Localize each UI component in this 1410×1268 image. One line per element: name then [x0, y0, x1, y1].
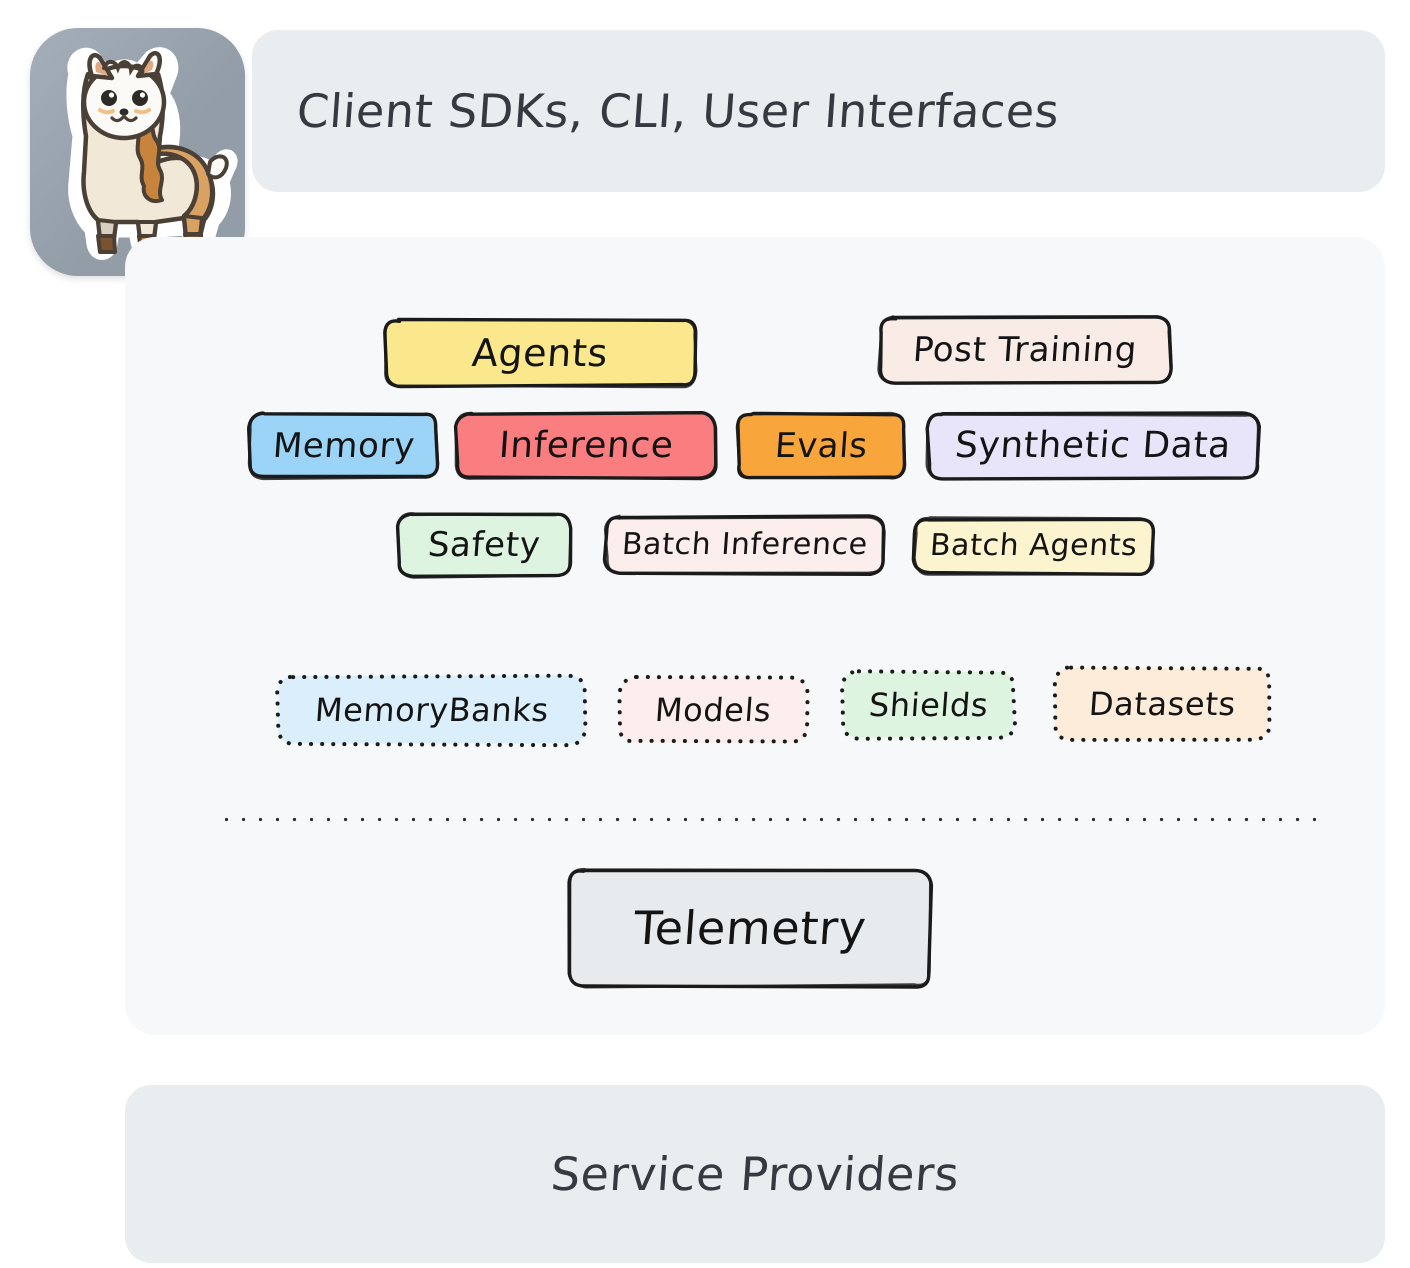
api-box-label: Agents — [471, 334, 610, 372]
resource-box-label: Shields — [868, 689, 989, 721]
api-box-batch-agents[interactable]: Batch Agents — [915, 519, 1153, 573]
diagram-canvas: Client SDKs, CLI, User Interfaces — [0, 0, 1410, 1268]
api-box-label: Batch Agents — [929, 531, 1139, 561]
telemetry-box-telemetry[interactable]: Telemetry — [570, 870, 930, 986]
api-box-memory[interactable]: Memory — [250, 414, 437, 478]
resource-box-datasets[interactable]: Datasets — [1056, 668, 1269, 740]
resource-box-memorybanks[interactable]: MemoryBanks — [278, 676, 585, 744]
resource-box-label: Datasets — [1088, 688, 1237, 720]
api-box-inference[interactable]: Inference — [457, 414, 715, 478]
resource-box-shields[interactable]: Shields — [843, 672, 1014, 738]
api-box-label: Inference — [497, 428, 674, 464]
api-box-post-training[interactable]: Post Training — [880, 318, 1170, 382]
telemetry-box-label: Telemetry — [632, 905, 868, 951]
client-layer-panel: Client SDKs, CLI, User Interfaces — [252, 30, 1385, 192]
api-box-agents[interactable]: Agents — [385, 320, 695, 386]
resource-box-label: Models — [654, 694, 773, 726]
section-divider — [218, 817, 1316, 822]
api-box-label: Memory — [271, 429, 415, 463]
api-box-batch-inference[interactable]: Batch Inference — [606, 517, 883, 573]
api-box-label: Synthetic Data — [954, 428, 1232, 464]
api-box-evals[interactable]: Evals — [738, 414, 905, 478]
api-box-label: Batch Inference — [621, 530, 869, 560]
service-providers-title: Service Providers — [549, 1147, 961, 1201]
api-box-label: Safety — [427, 528, 542, 562]
api-box-safety[interactable]: Safety — [398, 514, 570, 576]
api-box-label: Evals — [774, 429, 869, 463]
llama-logo-icon — [38, 40, 238, 268]
resource-box-models[interactable]: Models — [620, 678, 807, 742]
service-providers-panel: Service Providers — [125, 1085, 1385, 1263]
api-box-synthetic-data[interactable]: Synthetic Data — [928, 414, 1258, 478]
client-layer-title: Client SDKs, CLI, User Interfaces — [250, 84, 1387, 138]
api-box-label: Post Training — [912, 333, 1138, 367]
resource-box-label: MemoryBanks — [313, 694, 549, 726]
